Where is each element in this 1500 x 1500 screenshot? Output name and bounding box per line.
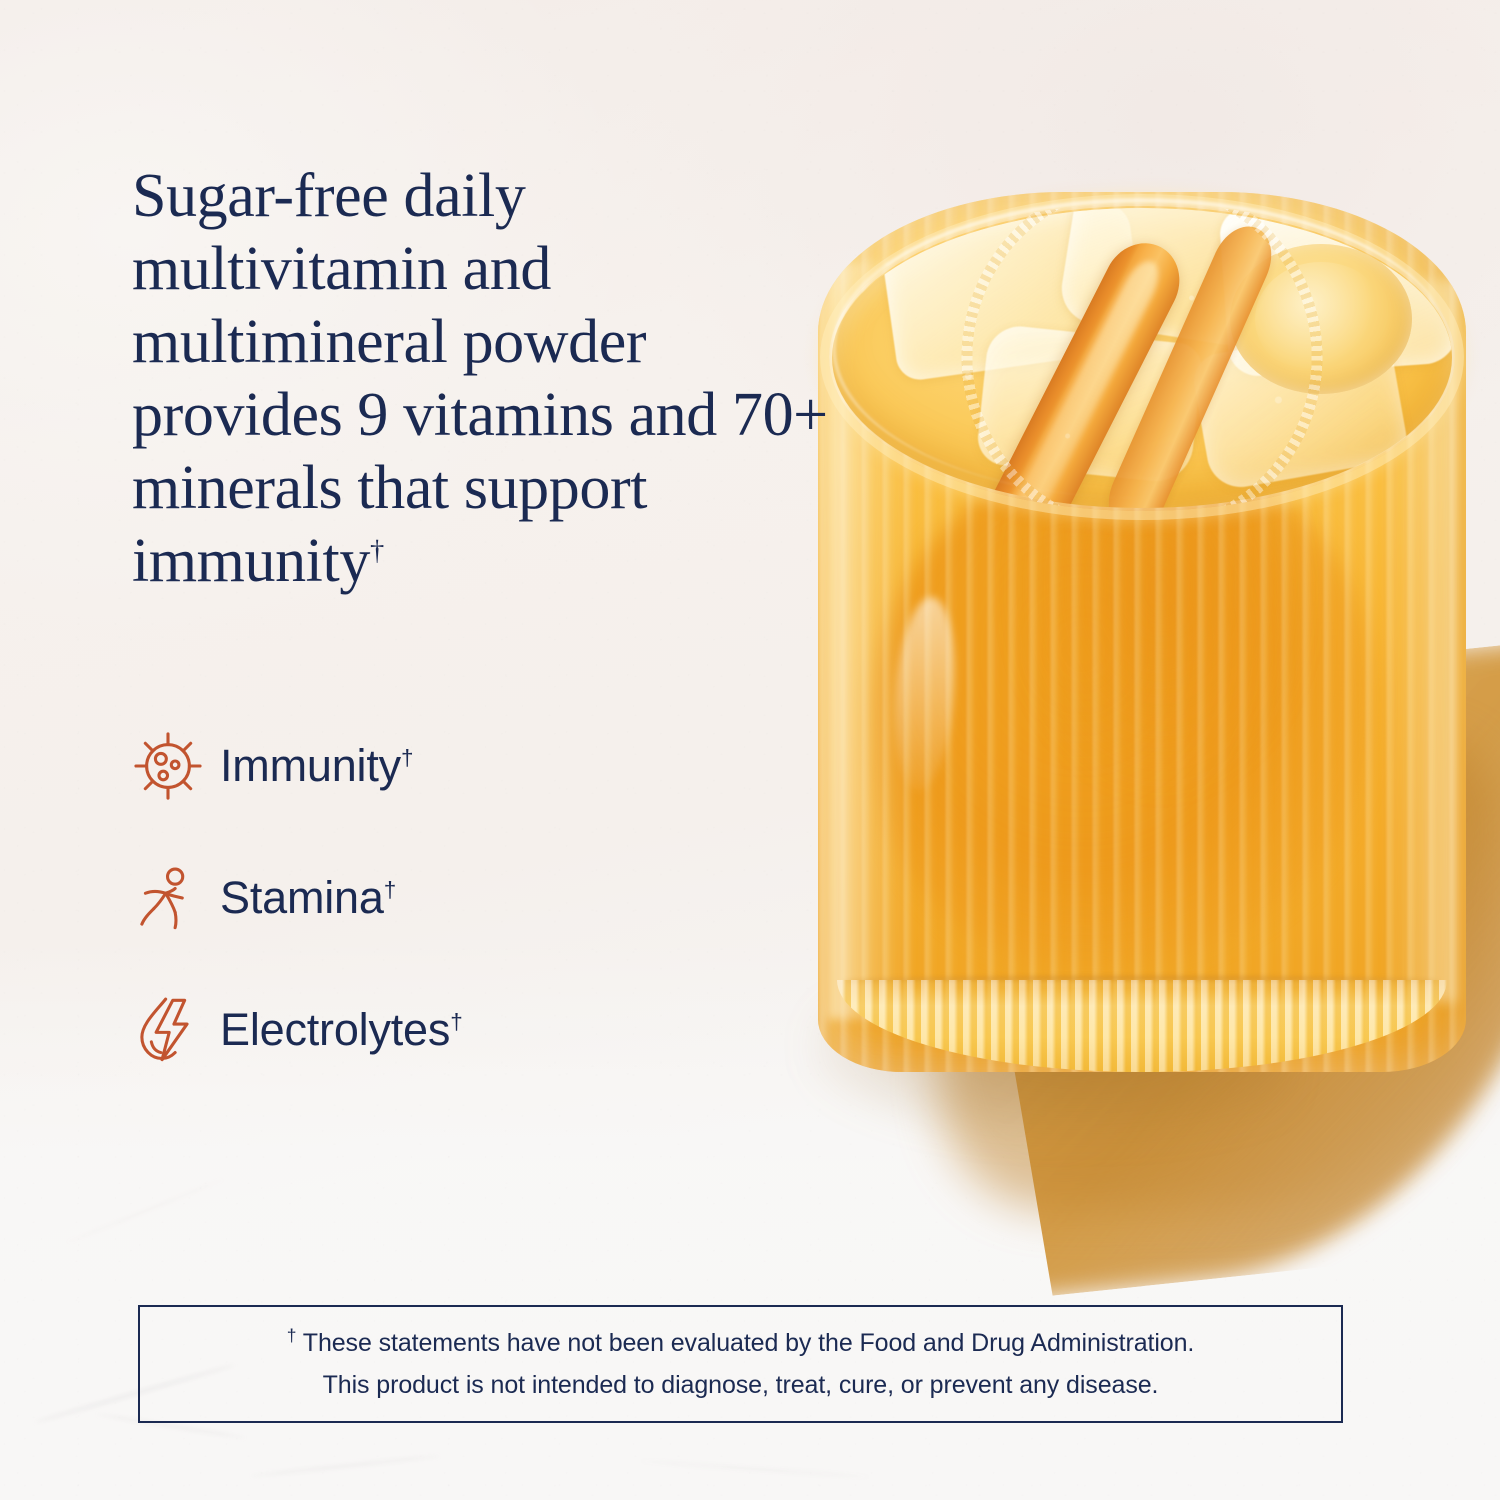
- headline-footnote-marker: †: [370, 535, 384, 566]
- beverage-glass-photo: [740, 140, 1500, 1320]
- benefit-item-stamina: Stamina†: [130, 832, 690, 964]
- running-person-icon: [130, 852, 220, 944]
- virus-icon: [130, 720, 220, 812]
- benefit-label-immunity: Immunity†: [220, 740, 413, 792]
- benefit-label-text: Electrolytes: [220, 1004, 450, 1055]
- liquid-bubbles: [832, 208, 1452, 508]
- disclaimer-line-1: † These statements have not been evaluat…: [287, 1322, 1195, 1364]
- product-benefits-card: Sugar-free daily multivitamin and multim…: [0, 0, 1500, 1500]
- disclaimer-line-2-text: This product is not intended to diagnose…: [323, 1371, 1159, 1399]
- benefit-item-immunity: Immunity†: [130, 700, 690, 832]
- benefit-label-electrolytes: Electrolytes†: [220, 1004, 463, 1056]
- benefit-label-stamina: Stamina†: [220, 872, 396, 924]
- benefit-item-electrolytes: Electrolytes†: [130, 964, 690, 1096]
- disclaimer-line-1-text: These statements have not been evaluated…: [303, 1329, 1194, 1357]
- page-title: Sugar-free daily multivitamin and multim…: [132, 160, 832, 598]
- droplet-lightning-icon: [130, 984, 220, 1076]
- disclaimer-footnote-marker: †: [287, 1326, 297, 1346]
- disclaimer-line-2: This product is not intended to diagnose…: [323, 1364, 1159, 1406]
- benefit-label-text: Immunity: [220, 740, 401, 791]
- headline-text: Sugar-free daily multivitamin and multim…: [132, 162, 828, 595]
- benefit-footnote-marker: †: [384, 877, 396, 902]
- benefit-footnote-marker: †: [450, 1009, 462, 1034]
- fda-disclaimer-box: † These statements have not been evaluat…: [138, 1305, 1343, 1423]
- benefit-label-text: Stamina: [220, 872, 384, 923]
- benefit-footnote-marker: †: [401, 745, 413, 770]
- liquid-surface: [832, 208, 1452, 508]
- benefits-list: Immunity† Stamina†: [130, 700, 690, 1096]
- glass-fluted-foot: [837, 980, 1446, 1072]
